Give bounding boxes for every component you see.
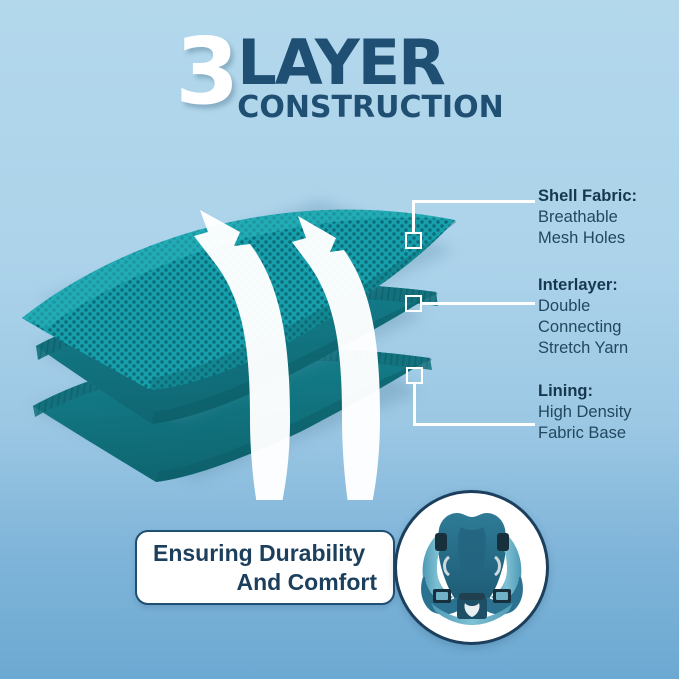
callout-line: Fabric Base (538, 423, 679, 444)
callout-line: Mesh Holes (538, 228, 679, 249)
callout-line: Double (538, 296, 679, 317)
connector-square-shell (405, 232, 422, 249)
tagline-line-1: Ensuring Durability (153, 539, 377, 567)
callout-line: High Density (538, 402, 679, 423)
callout-line: Connecting (538, 317, 679, 338)
page-title: 3 LAYER CONSTRUCTION (0, 34, 679, 123)
title-subtitle: CONSTRUCTION (237, 93, 503, 123)
tagline-line-2: And Comfort (153, 568, 377, 596)
callout-line: Stretch Yarn (538, 338, 679, 359)
callout-interlayer: Interlayer: Double Connecting Stretch Ya… (538, 275, 679, 359)
connector-hline-shell (412, 200, 535, 203)
connector-vline-shell (412, 200, 415, 234)
infographic-canvas: 3 LAYER CONSTRUCTION (0, 0, 679, 679)
connector-square-interlayer (405, 295, 422, 312)
callout-line: Breathable (538, 207, 679, 228)
connector-square-lining (406, 367, 423, 384)
layer-stack-illustration (0, 120, 470, 500)
callout-lining: Lining: High Density Fabric Base (538, 381, 679, 444)
callout-shell-fabric: Shell Fabric: Breathable Mesh Holes (538, 186, 679, 249)
connector-vline-lining (413, 384, 416, 425)
product-image-circle (394, 490, 549, 645)
dog-harness-icon (397, 493, 547, 643)
callout-heading: Lining: (538, 381, 679, 402)
connector-hline-interlayer (421, 302, 535, 305)
connector-hline-lining (413, 423, 535, 426)
title-word: LAYER (237, 38, 444, 88)
title-number: 3 (175, 34, 235, 109)
tagline-banner: Ensuring Durability And Comfort (135, 530, 395, 605)
callout-heading: Interlayer: (538, 275, 679, 296)
callout-heading: Shell Fabric: (538, 186, 679, 207)
